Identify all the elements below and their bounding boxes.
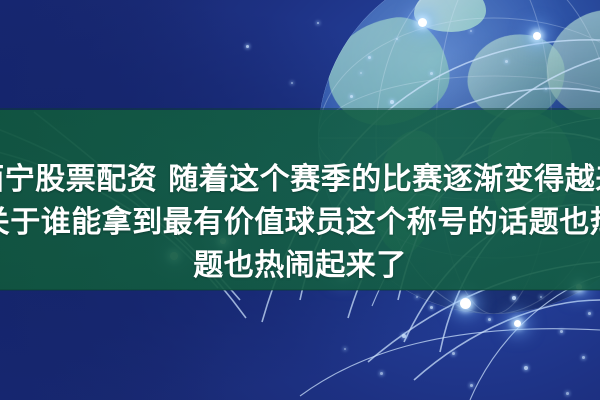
particle-dot (470, 30, 472, 32)
particle-dot (582, 356, 585, 359)
particle-dot (344, 348, 346, 350)
caption-text: 西宁股票配资 随着这个赛季的比赛逐渐变得越来 ，关于谁能拿到最有价值球员这个称号… (0, 158, 600, 287)
particle-dot (470, 384, 473, 387)
network-node-glow (418, 18, 427, 27)
particle-dot (416, 296, 418, 298)
particle-dot (402, 334, 406, 338)
particle-dot (505, 60, 508, 63)
band-top-edge (0, 108, 600, 110)
particle-dot (396, 38, 398, 40)
particle-dot (430, 306, 433, 309)
particle-dot (430, 72, 433, 75)
particle-dot (360, 72, 362, 74)
particle-dot (488, 318, 491, 321)
particle-dot (350, 95, 353, 98)
particle-dot (368, 56, 371, 59)
particle-dot (390, 100, 394, 104)
particle-dot (317, 22, 319, 24)
particle-dot (540, 296, 542, 298)
particle-dot (588, 312, 591, 315)
band-bottom-edge (0, 289, 600, 291)
particle-dot (560, 330, 563, 333)
network-node-glow (533, 32, 541, 40)
particle-dot (246, 45, 249, 48)
particle-dot (566, 392, 569, 395)
particle-dot (291, 82, 293, 84)
network-node-glow (514, 320, 521, 327)
particle-dot (512, 296, 516, 300)
particle-dot (452, 352, 455, 355)
banner-image: 西宁股票配资 随着这个赛季的比赛逐渐变得越来 ，关于谁能拿到最有价值球员这个称号… (0, 0, 600, 400)
particle-dot (524, 366, 528, 370)
particle-dot (545, 88, 547, 90)
particle-dot (380, 372, 383, 375)
network-node-glow (460, 298, 471, 309)
